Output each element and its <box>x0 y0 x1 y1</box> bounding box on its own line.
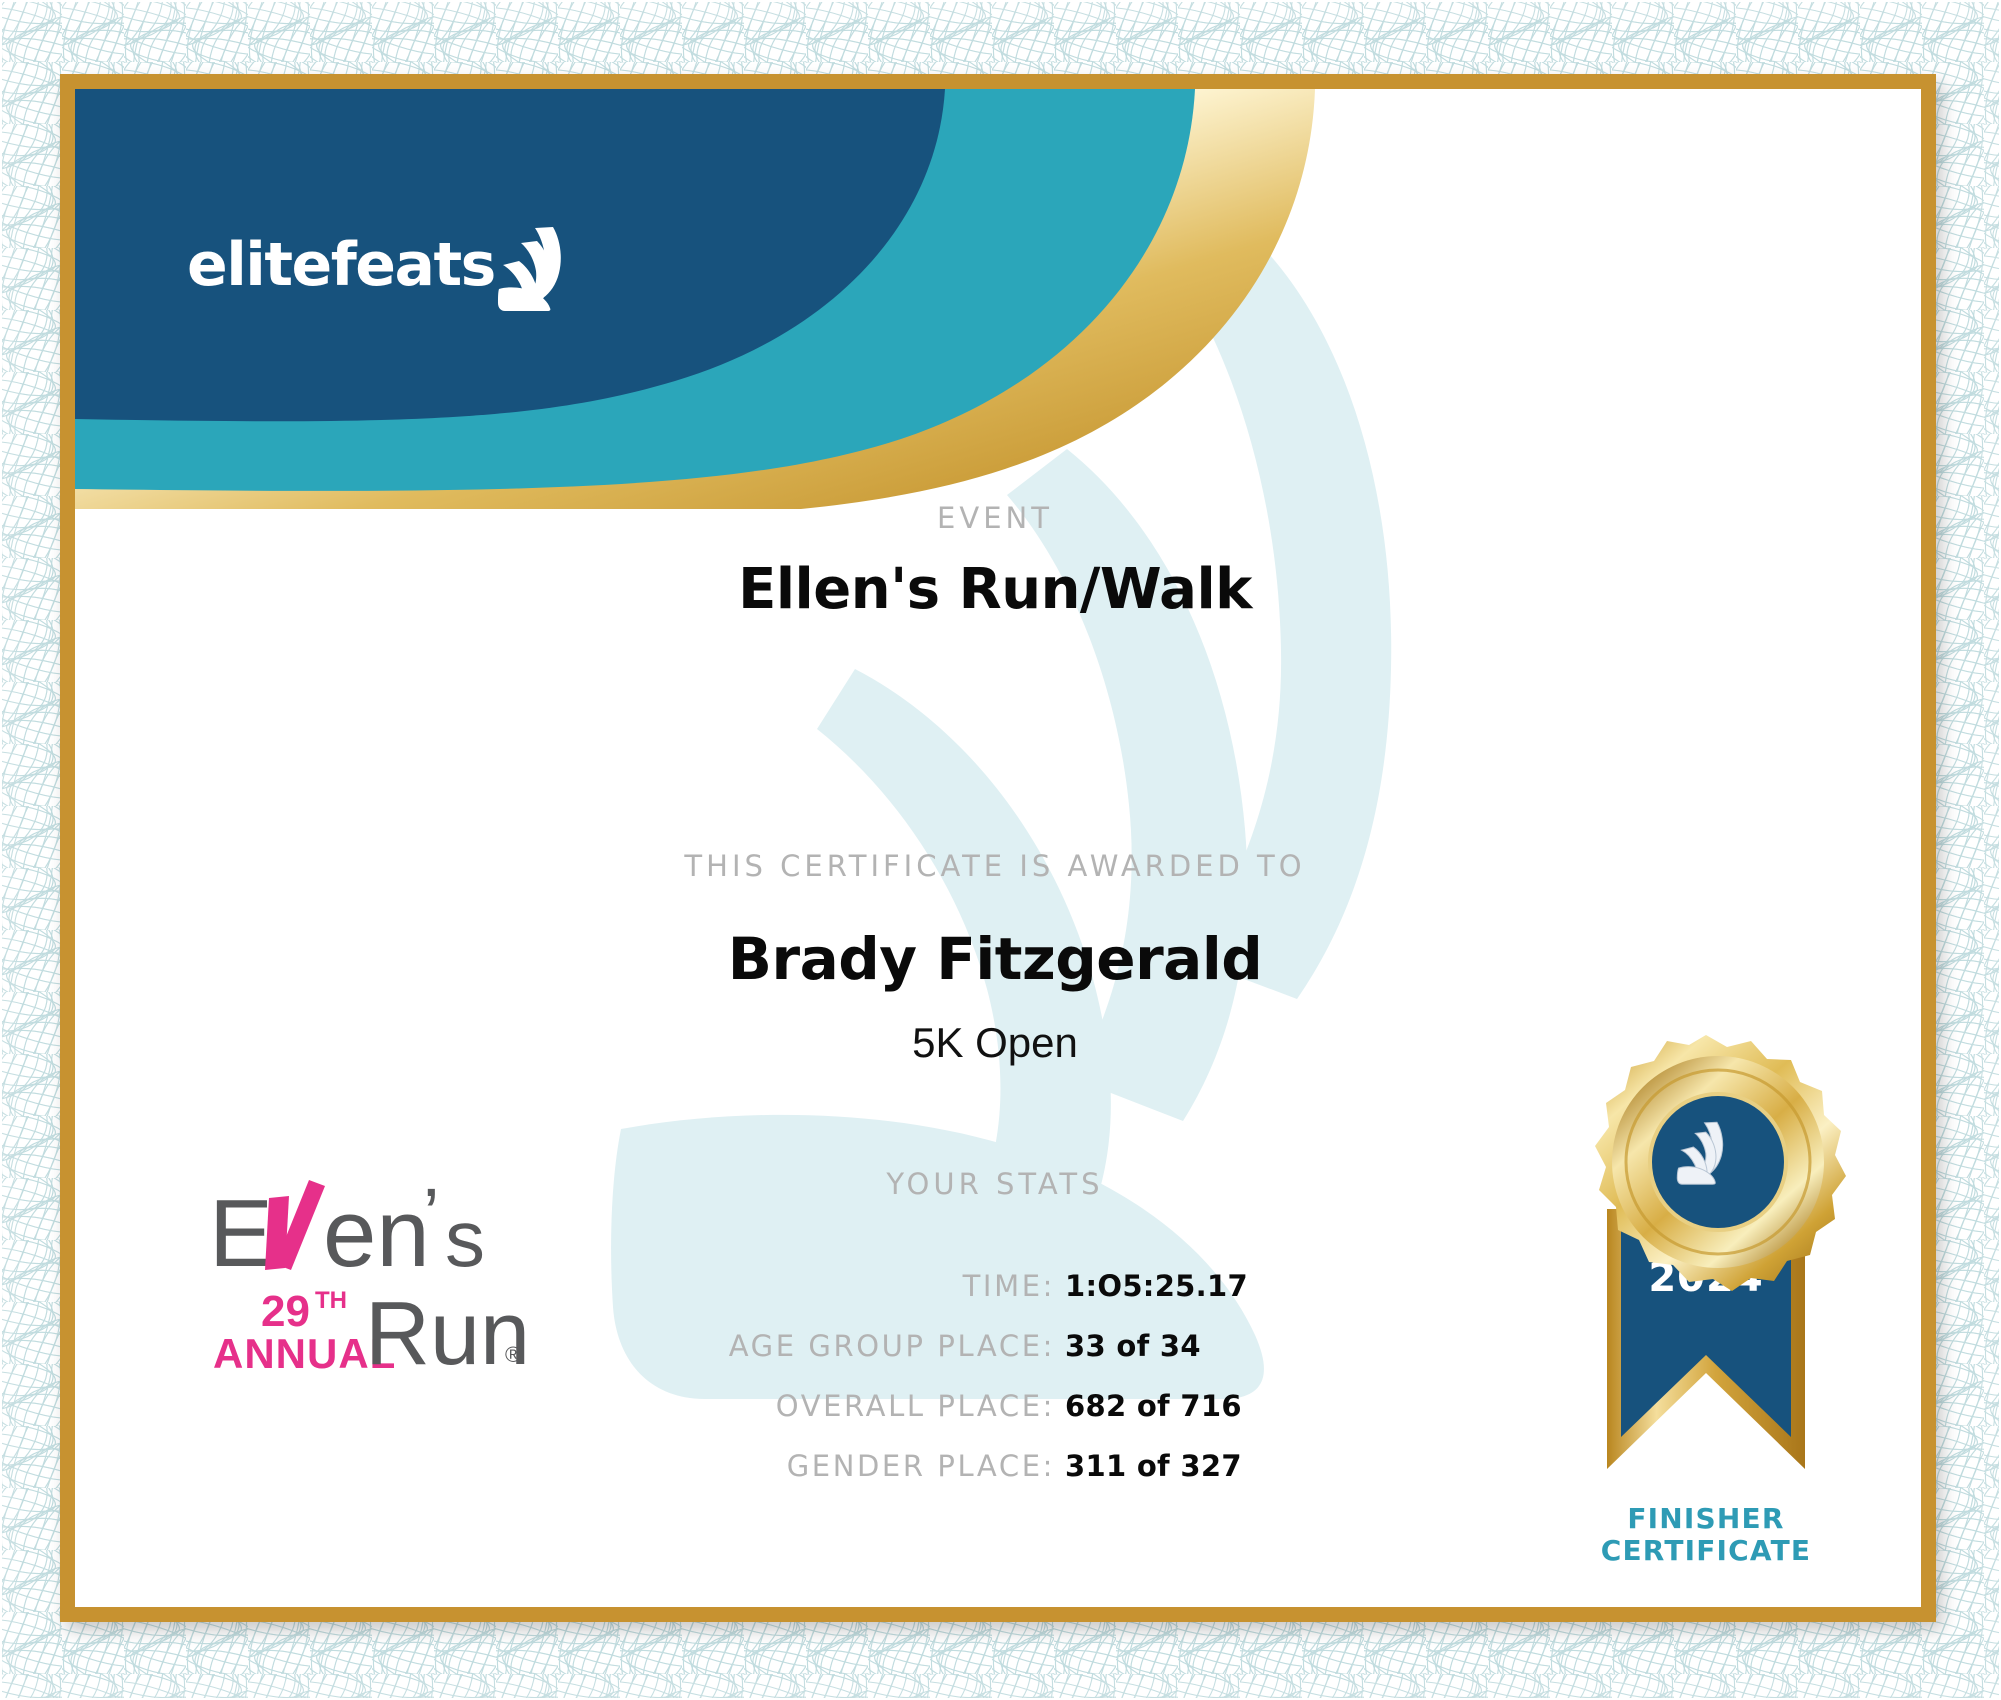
ellens-logo-letter-e: E <box>209 1180 273 1287</box>
medal-caption-line-2: CERTIFICATE <box>1541 1535 1871 1567</box>
stat-label-time: TIME: <box>963 1269 1055 1303</box>
ellens-logo-registered-mark: ® <box>505 1342 521 1367</box>
medal-caption-line-1: FINISHER <box>1541 1503 1871 1535</box>
awarded-to-label: THIS CERTIFICATE IS AWARDED TO <box>535 849 1455 883</box>
stat-value-overall-place: 682 of 716 <box>1065 1389 1275 1423</box>
stat-row-overall-place: OVERALL PLACE: 682 of 716 <box>515 1389 1275 1423</box>
recipient-name: Brady Fitzgerald <box>485 925 1505 993</box>
ellens-logo-ordinal-suffix: TH <box>315 1287 347 1314</box>
medal-caption: FINISHER CERTIFICATE <box>1541 1503 1871 1568</box>
certificate-page: elitefeats EVENT Ellen's Run/Walk THIS C… <box>0 0 2001 1700</box>
event-label: EVENT <box>635 501 1355 535</box>
stat-row-time: TIME: 1:O5:25.17 <box>515 1269 1275 1303</box>
ellens-logo-letter-s: s <box>445 1194 485 1283</box>
stat-row-gender-place: GENDER PLACE: 311 of 327 <box>515 1449 1275 1483</box>
ellens-logo-pink-ll <box>265 1180 325 1270</box>
stat-value-time: 1:O5:25.17 <box>1065 1269 1275 1303</box>
stat-label-age-group-place: AGE GROUP PLACE: <box>729 1329 1055 1363</box>
stats-table: TIME: 1:O5:25.17 AGE GROUP PLACE: 33 of … <box>515 1269 1275 1509</box>
division-name: 5K Open <box>535 1019 1455 1067</box>
ellens-logo-ordinal-number: 29 <box>261 1287 310 1336</box>
stat-value-age-group-place: 33 of 34 <box>1065 1329 1275 1363</box>
your-stats-label: YOUR STATS <box>535 1167 1455 1201</box>
stat-label-overall-place: OVERALL PLACE: <box>776 1389 1055 1423</box>
ellens-logo-run-word: Run <box>365 1284 530 1384</box>
ellens-logo-letters-en: en <box>323 1180 430 1287</box>
ellens-logo-apostrophe: ’ <box>423 1174 439 1256</box>
ellens-run-logo: E en ’ s 29 TH ANNUAL Run ® <box>205 1174 545 1394</box>
finisher-medal: 2024 <box>1541 1029 1871 1529</box>
certificate-card: elitefeats EVENT Ellen's Run/Walk THIS C… <box>60 74 1936 1622</box>
event-name: Ellen's Run/Walk <box>535 557 1455 622</box>
stat-value-gender-place: 311 of 327 <box>1065 1449 1275 1483</box>
stat-label-gender-place: GENDER PLACE: <box>787 1449 1055 1483</box>
stat-row-age-group-place: AGE GROUP PLACE: 33 of 34 <box>515 1329 1275 1363</box>
